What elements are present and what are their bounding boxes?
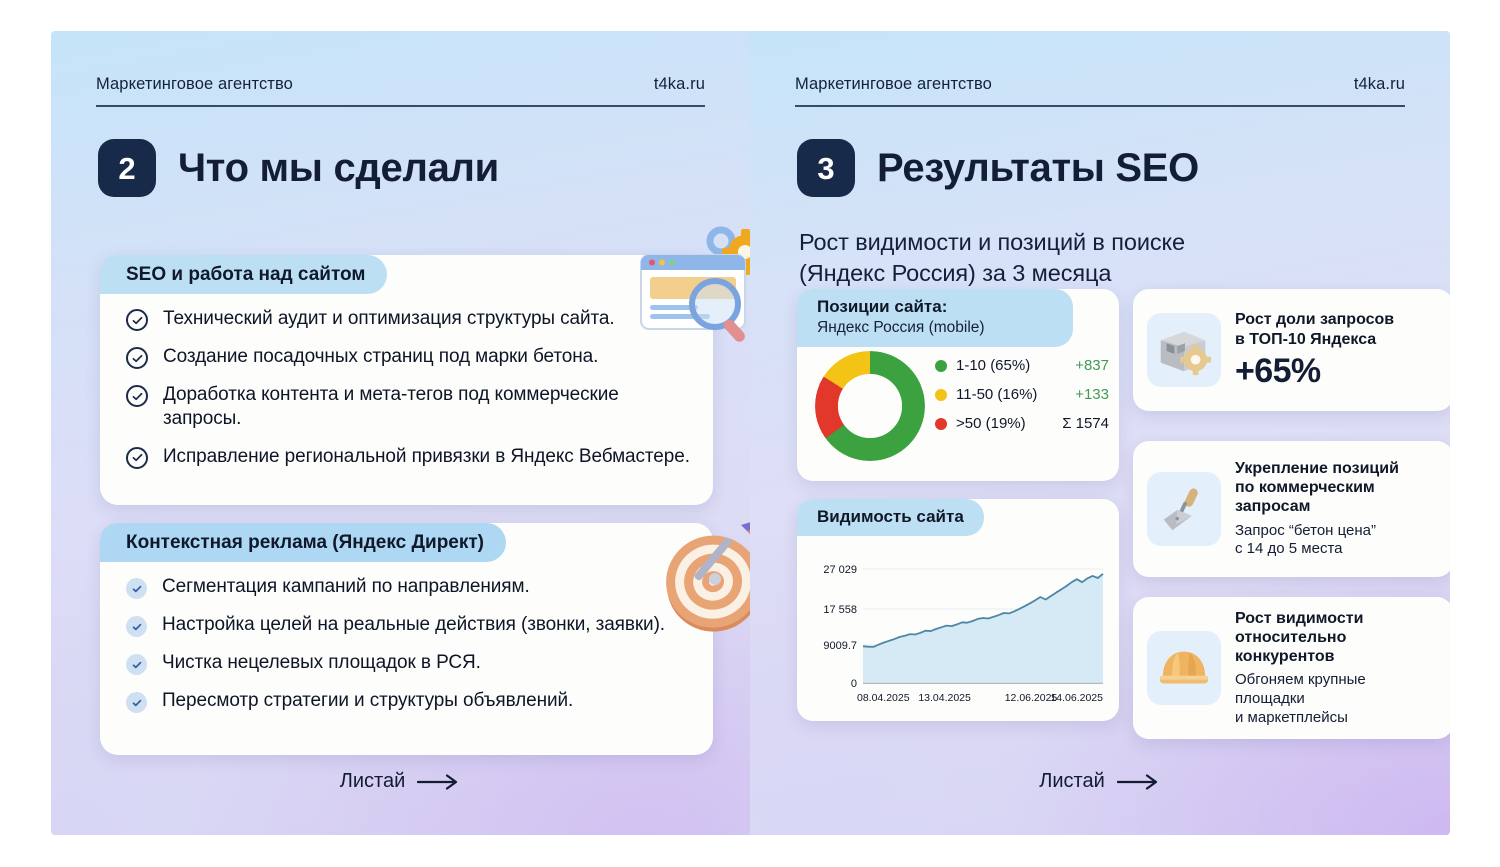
legend-color-dot xyxy=(935,360,947,372)
svg-text:27 029: 27 029 xyxy=(823,564,857,576)
legend-item: >50 (19%) Σ 1574 xyxy=(935,415,1109,432)
list-item-label: Сегментация кампаний по направлениям. xyxy=(162,575,530,599)
slide-2: Маркетинговое агентство t4ka.ru 2 Что мы… xyxy=(51,31,750,835)
svg-text:17 558: 17 558 xyxy=(823,604,857,616)
target-dart-icon xyxy=(655,515,750,637)
list-item: Чистка нецелевых площадок в РСЯ. xyxy=(126,651,697,675)
list-item: Создание посадочных страниц под марки бе… xyxy=(126,345,697,369)
card-seo: SEO и работа над сайтом Технический ауди… xyxy=(100,255,713,505)
result-card-title: Рост доли запросов в ТОП-10 Яндекса xyxy=(1235,310,1394,348)
slide-3-header: Маркетинговое агентство t4ka.ru xyxy=(795,75,1405,107)
check-circle-icon xyxy=(126,447,148,469)
list-item-label: Создание посадочных страниц под марки бе… xyxy=(163,345,598,369)
card-seo-bullets: Технический аудит и оптимизация структур… xyxy=(126,307,697,469)
legend-color-dot xyxy=(935,389,947,401)
donut-chart xyxy=(815,351,925,461)
slide-3-footer[interactable]: Листай xyxy=(750,770,1450,793)
card-positions: Позиции сайта: Яндекс Россия (mobile) 1-… xyxy=(797,289,1119,481)
svg-text:08.04.2025: 08.04.2025 xyxy=(857,692,910,704)
arrow-right-icon xyxy=(417,774,461,790)
page-title: Результаты SEO xyxy=(877,148,1199,188)
header-divider xyxy=(96,105,705,107)
area-chart-svg: 27 02917 5589009.7008.04.202513.04.20251… xyxy=(807,555,1109,715)
check-circle-filled-icon xyxy=(126,692,147,713)
list-item: Настройка целей на реальные действия (зв… xyxy=(126,613,697,637)
list-item: Сегментация кампаний по направлениям. xyxy=(126,575,697,599)
card-visibility-title: Видимость сайта xyxy=(817,507,964,527)
list-item-label: Пересмотр стратегии и структуры объявлен… xyxy=(162,689,573,713)
result-card-competitors: Рост видимости относительно конкурентов … xyxy=(1133,597,1450,739)
card-context-ads-bullets: Сегментация кампаний по направлениям. На… xyxy=(126,575,697,713)
slide-2-footer[interactable]: Листай xyxy=(51,770,750,793)
swipe-label: Листай xyxy=(340,770,406,793)
card-seo-pill: SEO и работа над сайтом xyxy=(100,255,387,294)
result-card-commercial-queries: Укрепление позиций по коммерческим запро… xyxy=(1133,441,1450,577)
slide-2-header: Маркетинговое агентство t4ka.ru xyxy=(96,75,705,107)
site-url-label: t4ka.ru xyxy=(654,75,705,94)
check-circle-icon xyxy=(126,385,148,407)
check-circle-filled-icon xyxy=(126,578,147,599)
presentation-stage: Маркетинговое агентство t4ka.ru 2 Что мы… xyxy=(0,0,1500,867)
check-circle-filled-icon xyxy=(126,654,147,675)
donut-legend: 1-10 (65%) +837 11-50 (16%) +133 >50 (19… xyxy=(935,357,1109,432)
agency-label: Маркетинговое агентство xyxy=(795,75,992,94)
slide-2-title-row: 2 Что мы сделали xyxy=(98,139,499,197)
card-context-ads-pill: Контекстная реклама (Яндекс Директ) xyxy=(100,523,506,562)
card-positions-subtitle: Яндекс Россия (mobile) xyxy=(817,318,1053,337)
list-item-label: Технический аудит и оптимизация структур… xyxy=(163,307,615,331)
result-card-value: +65% xyxy=(1235,354,1394,390)
check-circle-icon xyxy=(126,347,148,369)
legend-label: 1-10 (65%) xyxy=(956,357,1030,374)
result-card-top10: Рост доли запросов в ТОП-10 Яндекса +65% xyxy=(1133,289,1450,411)
legend-label: >50 (19%) xyxy=(956,415,1026,432)
website-magnifier-icon xyxy=(637,224,750,344)
result-card-title: Рост видимости относительно конкурентов xyxy=(1235,609,1366,667)
list-item-label: Настройка целей на реальные действия (зв… xyxy=(162,613,665,637)
trowel-icon xyxy=(1147,472,1221,546)
arrow-right-icon xyxy=(1117,774,1161,790)
legend-value: +837 xyxy=(1067,357,1109,374)
concrete-block-gear-icon xyxy=(1147,313,1221,387)
list-item: Пересмотр стратегии и структуры объявлен… xyxy=(126,689,697,713)
svg-text:9009.7: 9009.7 xyxy=(823,640,857,652)
slide-3: Маркетинговое агентство t4ka.ru 3 Резуль… xyxy=(750,31,1450,835)
list-item-label: Чистка нецелевых площадок в РСЯ. xyxy=(162,651,481,675)
list-item-label: Доработка контента и мета-тегов под комм… xyxy=(163,383,697,431)
agency-label: Маркетинговое агентство xyxy=(96,75,293,94)
svg-text:14.06.2025: 14.06.2025 xyxy=(1050,692,1103,704)
header-divider xyxy=(795,105,1405,107)
legend-color-dot xyxy=(935,418,947,430)
list-item-label: Исправление региональной привязки в Янде… xyxy=(163,445,690,469)
legend-value: +133 xyxy=(1067,386,1109,403)
legend-item: 1-10 (65%) +837 xyxy=(935,357,1109,374)
check-circle-icon xyxy=(126,309,148,331)
slide-number-badge: 3 xyxy=(797,139,855,197)
page-subtitle: Рост видимости и позиций в поиске (Яндек… xyxy=(799,227,1185,290)
result-card-subtitle: Обгоняем крупные площадки и маркетплейсы xyxy=(1235,671,1366,727)
slide-3-title-row: 3 Результаты SEO xyxy=(797,139,1199,197)
check-circle-filled-icon xyxy=(126,616,147,637)
result-card-subtitle: Запрос “бетон цена” с 14 до 5 места xyxy=(1235,522,1399,560)
list-item: Технический аудит и оптимизация структур… xyxy=(126,307,697,331)
visibility-area-chart: 27 02917 5589009.7008.04.202513.04.20251… xyxy=(807,555,1109,715)
card-positions-title: Позиции сайта: xyxy=(817,297,1053,317)
legend-total: Σ 1574 xyxy=(1054,415,1109,432)
legend-item: 11-50 (16%) +133 xyxy=(935,386,1109,403)
card-positions-pill: Позиции сайта: Яндекс Россия (mobile) xyxy=(797,289,1073,347)
list-item: Доработка контента и мета-тегов под комм… xyxy=(126,383,697,431)
hard-hat-icon xyxy=(1147,631,1221,705)
card-context-ads: Контекстная реклама (Яндекс Директ) Сегм… xyxy=(100,523,713,755)
result-card-title: Укрепление позиций по коммерческим запро… xyxy=(1235,459,1399,517)
list-item: Исправление региональной привязки в Янде… xyxy=(126,445,697,469)
donut-ring xyxy=(815,351,925,461)
card-visibility-pill: Видимость сайта xyxy=(797,499,984,536)
svg-text:13.04.2025: 13.04.2025 xyxy=(918,692,971,704)
svg-text:0: 0 xyxy=(851,678,857,690)
site-url-label: t4ka.ru xyxy=(1354,75,1405,94)
swipe-label: Листай xyxy=(1039,770,1105,793)
page-title: Что мы сделали xyxy=(178,148,499,188)
legend-label: 11-50 (16%) xyxy=(956,386,1037,403)
card-visibility: Видимость сайта 27 02917 5589009.7008.04… xyxy=(797,499,1119,721)
slide-number-badge: 2 xyxy=(98,139,156,197)
